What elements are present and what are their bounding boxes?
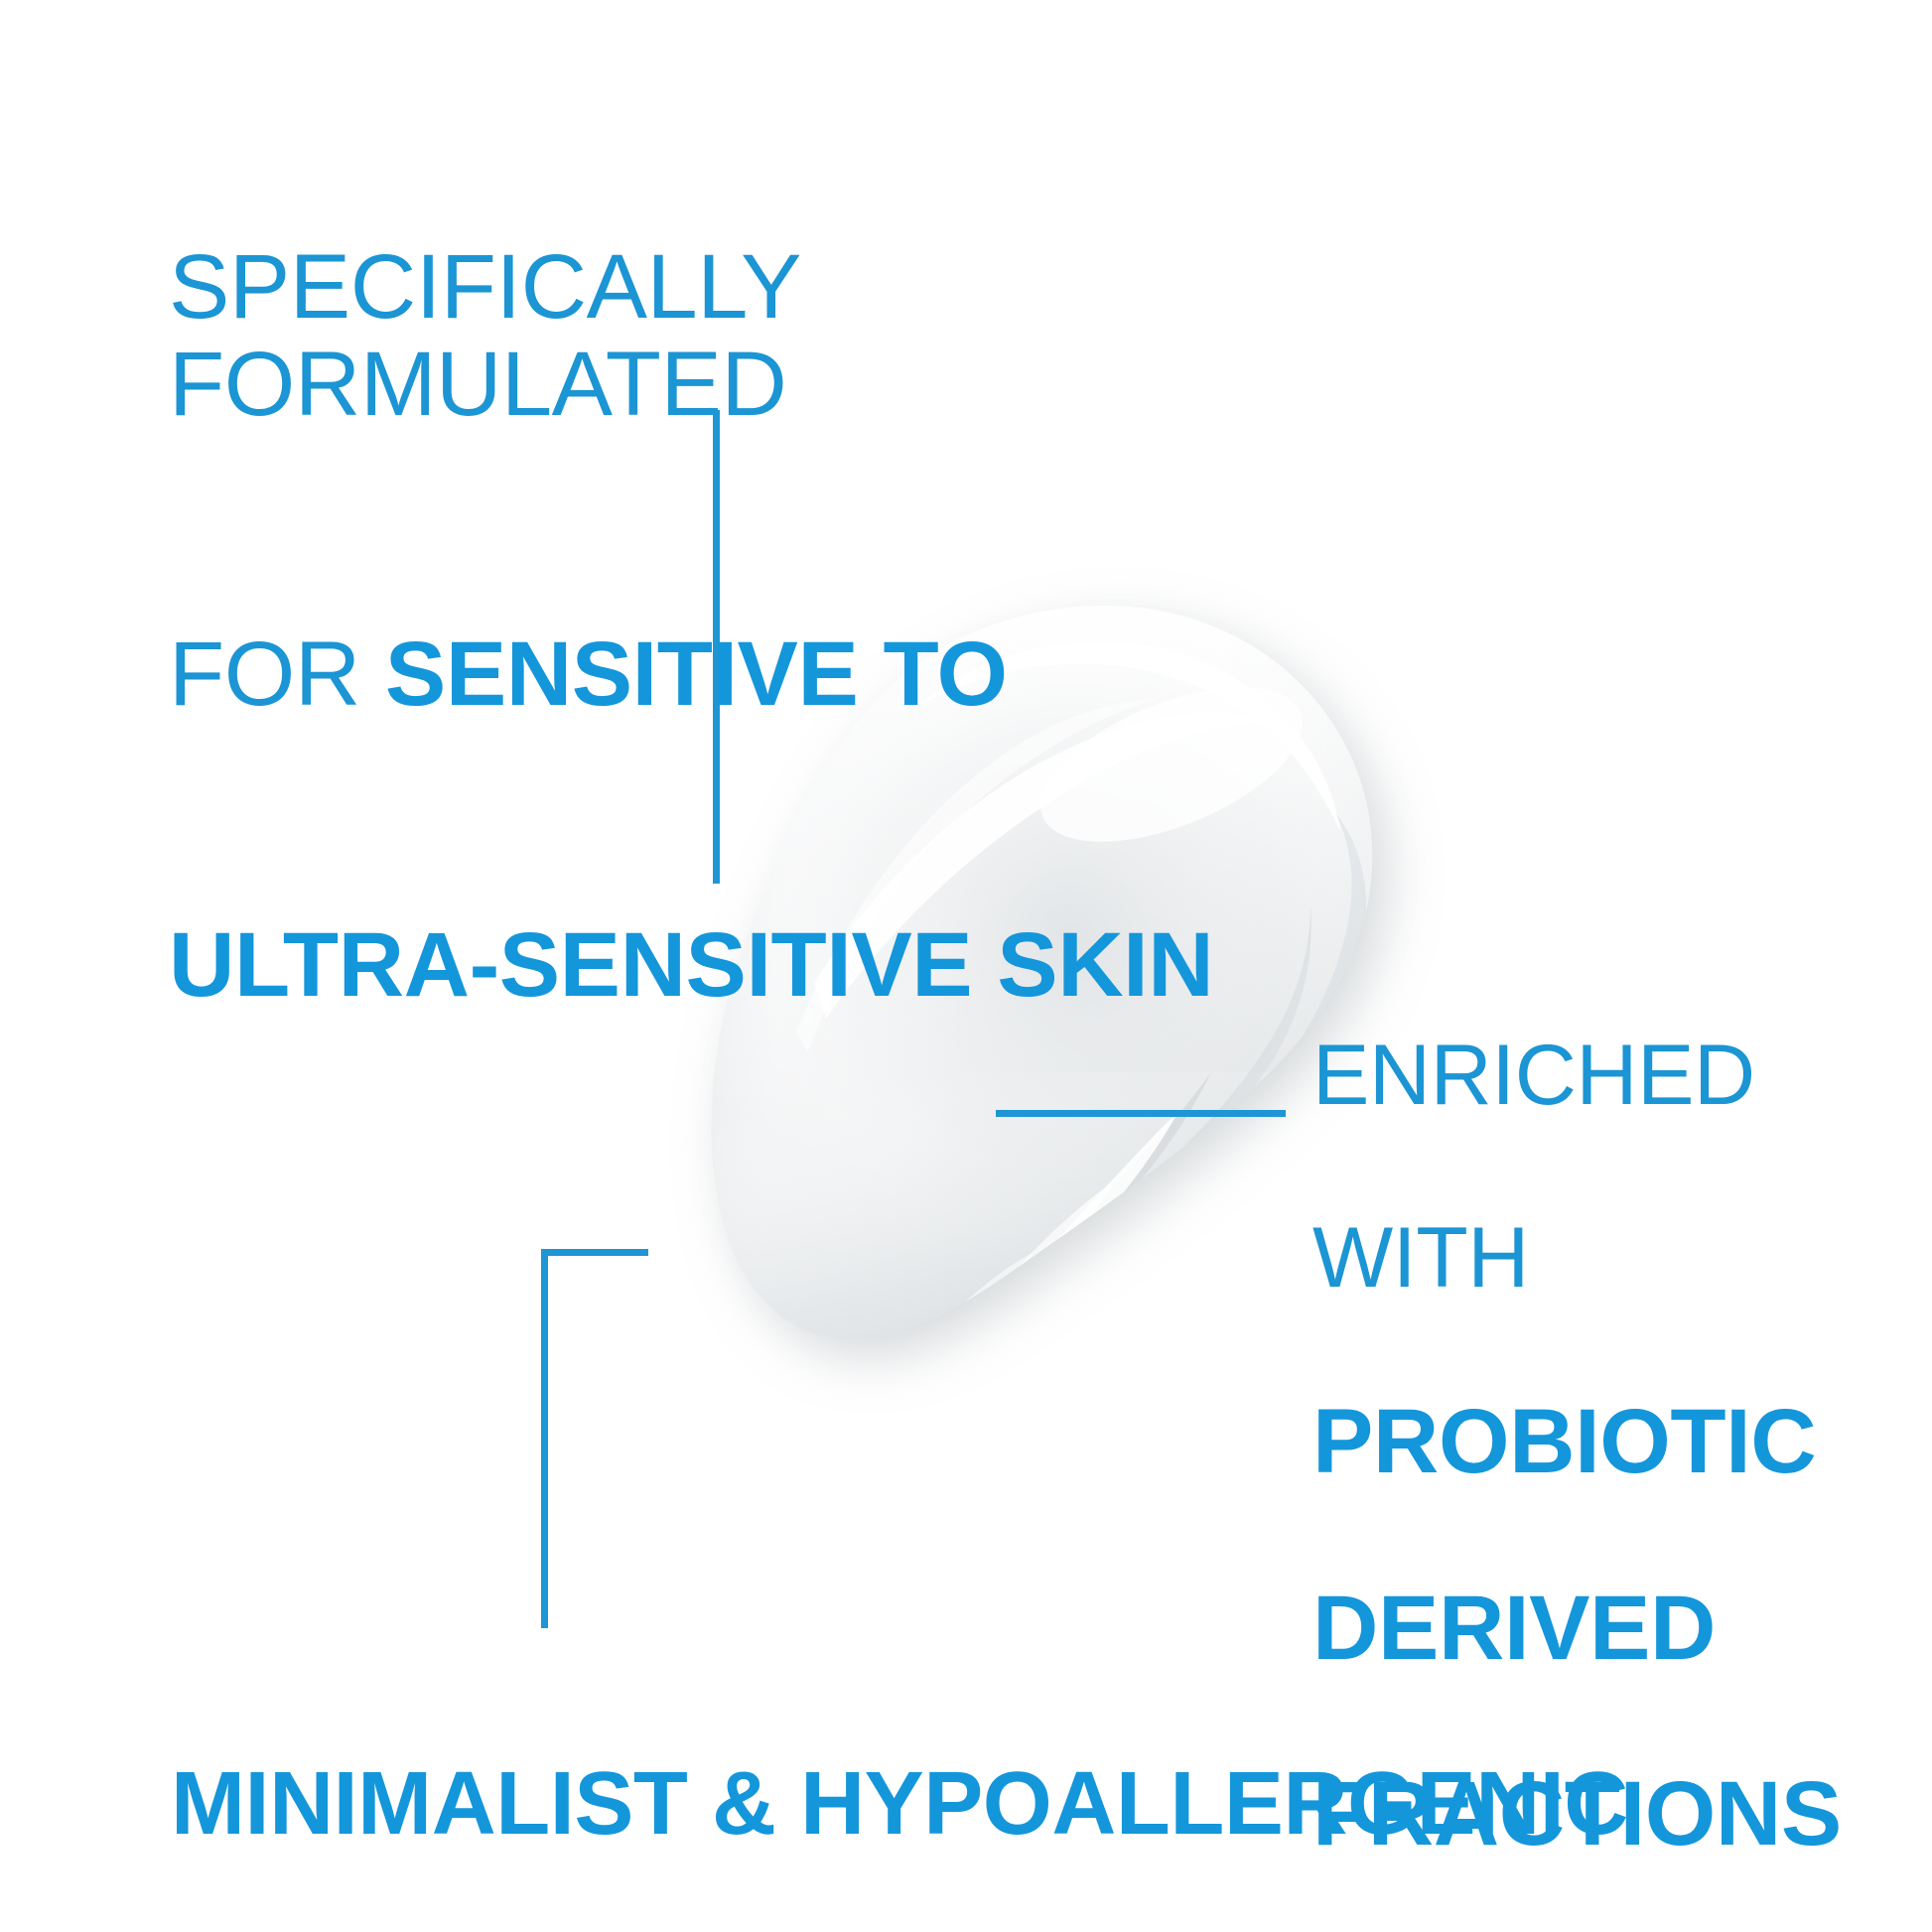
headline-line-2-emphasis: SENSITIVE TO: [385, 623, 1008, 725]
connector-line-bottom-vertical: [541, 1249, 548, 1628]
headline-line-3: ULTRA-SENSITIVE SKIN: [169, 820, 1340, 1014]
headline-line-2: FOR SENSITIVE TO: [169, 530, 1340, 724]
right-callout-line-1: ENRICHED: [1312, 1030, 1908, 1121]
headline-line-3-emphasis: ULTRA-SENSITIVE SKIN: [169, 914, 1213, 1016]
right-callout-line-2: WITH: [1312, 1212, 1908, 1304]
headline-callout: SPECIFICALLY FORMULATED FOR SENSITIVE TO…: [169, 46, 1340, 1111]
right-callout-line-3: PROBIOTIC: [1312, 1395, 1908, 1490]
bottom-callout-line-1: MINIMALIST & HYPOALLERGENIC: [171, 1756, 1660, 1853]
infographic-canvas: SPECIFICALLY FORMULATED FOR SENSITIVE TO…: [0, 0, 1932, 1932]
connector-line-bottom-horizontal: [541, 1249, 648, 1256]
headline-line-1-text: SPECIFICALLY FORMULATED: [169, 236, 799, 435]
bottom-callout: MINIMALIST & HYPOALLERGENIC FORMULA: [171, 1660, 1660, 1932]
headline-line-2-prefix: FOR: [169, 623, 385, 725]
headline-line-1: SPECIFICALLY FORMULATED: [169, 143, 1340, 434]
connector-line-middle-horizontal: [996, 1110, 1286, 1117]
